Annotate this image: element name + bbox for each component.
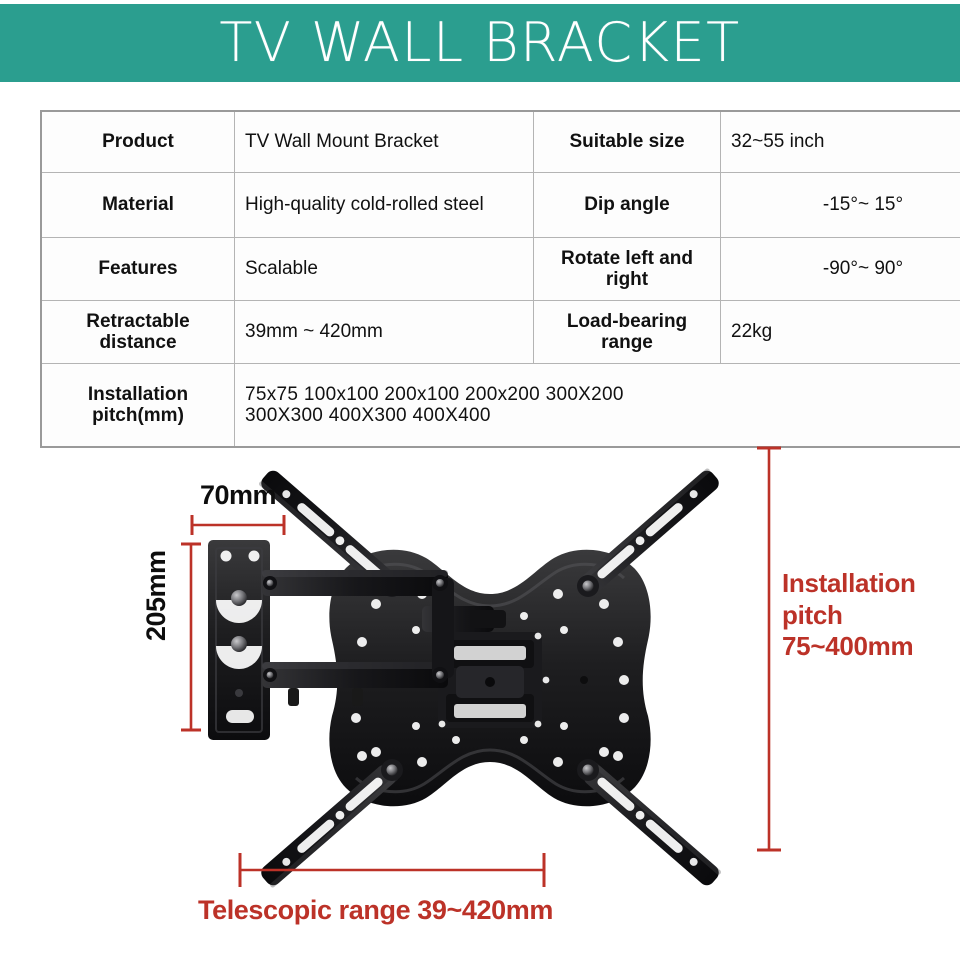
spec-label: Rotate left and right xyxy=(534,238,721,301)
spec-label: Retractable distance xyxy=(41,301,235,364)
spec-value: -90°~ 90° xyxy=(721,238,960,301)
spec-label: Dip angle xyxy=(534,173,721,238)
table-row: Product TV Wall Mount Bracket Suitable s… xyxy=(41,111,960,173)
spec-sheet-page: TV WALL BRACKET Product TV Wall Mount Br… xyxy=(0,0,960,962)
wall-mount-plate xyxy=(208,540,270,740)
dimension-label-telescopic-range: Telescopic range 39~420mm xyxy=(198,895,553,926)
pitch-label-line-1: Installation xyxy=(782,568,916,600)
dimension-line-installation-pitch xyxy=(755,440,783,860)
spec-label: Suitable size xyxy=(534,111,721,173)
spec-table-container: Product TV Wall Mount Bracket Suitable s… xyxy=(40,110,920,448)
spec-label: Load-bearing range xyxy=(534,301,721,364)
spec-value: -15°~ 15° xyxy=(721,173,960,238)
pitch-label-line-3: 75~400mm xyxy=(782,631,916,663)
pitch-label-line-2: pitch xyxy=(782,600,916,632)
specification-table: Product TV Wall Mount Bracket Suitable s… xyxy=(40,110,960,448)
dimension-label-installation-pitch: Installation pitch 75~400mm xyxy=(782,568,916,663)
dimension-line-205mm xyxy=(178,538,204,738)
bracket-arm-bottom-right xyxy=(581,762,722,889)
spec-value: TV Wall Mount Bracket xyxy=(235,111,534,173)
spec-value: High-quality cold-rolled steel xyxy=(235,173,534,238)
spec-value: Scalable xyxy=(235,238,534,301)
dimension-label-70mm: 70mm xyxy=(200,480,276,511)
page-title: TV WALL BRACKET xyxy=(219,16,740,70)
table-row: Material High-quality cold-rolled steel … xyxy=(41,173,960,238)
dimension-label-205mm: 205mm xyxy=(141,550,172,641)
bracket-arm-top-right xyxy=(581,467,722,594)
spec-label: Features xyxy=(41,238,235,301)
header-banner: TV WALL BRACKET xyxy=(0,4,960,82)
spec-label: Product xyxy=(41,111,235,173)
pitch-line-1: 75x75 100x100 200x100 200x200 300X200 xyxy=(245,384,960,405)
dimension-line-70mm xyxy=(186,512,296,538)
table-row: Retractable distance 39mm ~ 420mm Load-b… xyxy=(41,301,960,364)
dimension-line-telescopic-range xyxy=(232,848,554,888)
product-figure: 70mm 205mm Installation pitch 75~400mm T… xyxy=(0,408,960,962)
spec-label: Material xyxy=(41,173,235,238)
spec-value: 22kg xyxy=(721,301,960,364)
spec-value: 39mm ~ 420mm xyxy=(235,301,534,364)
spec-value: 32~55 inch xyxy=(721,111,960,173)
table-row: Features Scalable Rotate left and right … xyxy=(41,238,960,301)
